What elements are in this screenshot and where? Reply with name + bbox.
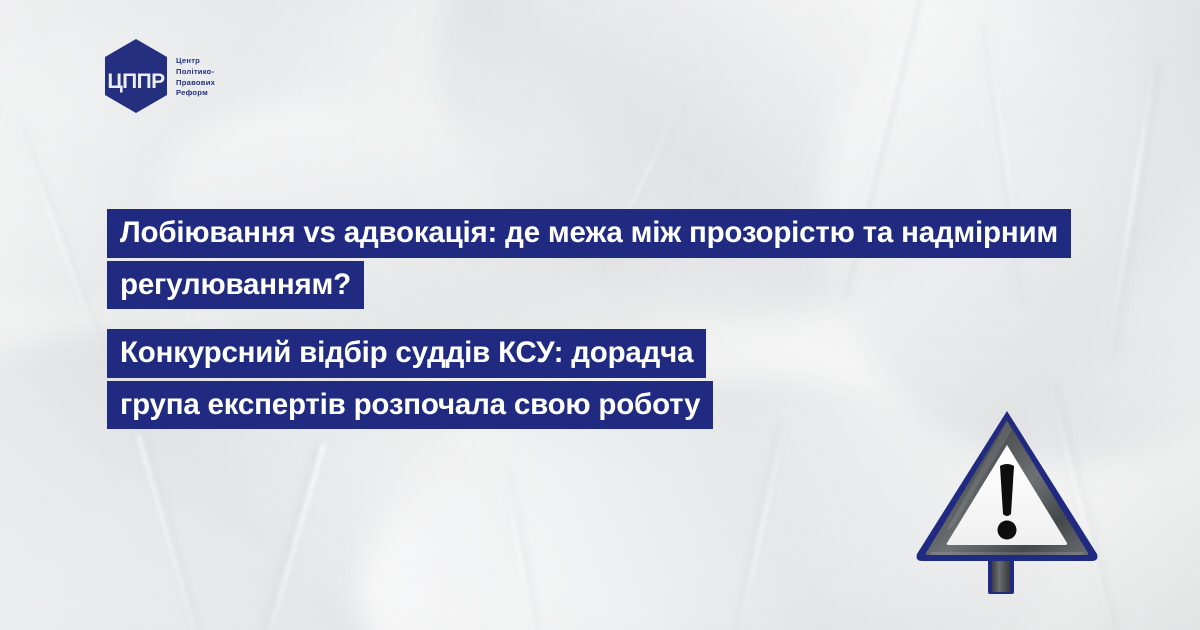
hexagon-logo-icon: ЦППР	[103, 38, 169, 114]
headline-line: Конкурсний відбір суддів КСУ: дорадча	[107, 329, 706, 378]
headline-line: Лобіювання vs адвокація: де межа між про…	[107, 209, 1071, 258]
brand-name: Центр Політико- Правових Реформ	[176, 54, 215, 97]
headline-ccu-selection: Конкурсний відбір суддів КСУ: дорадча гр…	[0, 329, 713, 429]
warning-triangle-sign-icon	[912, 404, 1102, 599]
brand-name-line: Центр	[176, 56, 215, 66]
brand-name-line: Правових	[176, 78, 215, 88]
brand-logo[interactable]: ЦППР Центр Політико- Правових Реформ	[103, 38, 215, 114]
headline-line: група експертів розпочала свою роботу	[107, 381, 713, 430]
headline-line: регулюванням?	[107, 261, 364, 310]
brand-name-line: Політико-	[176, 67, 215, 77]
brand-name-line: Реформ	[176, 88, 215, 98]
headline-lobbying: Лобіювання vs адвокація: де межа між про…	[0, 209, 1071, 309]
poster-canvas: ЦППР Центр Політико- Правових Реформ Лоб…	[0, 0, 1200, 630]
